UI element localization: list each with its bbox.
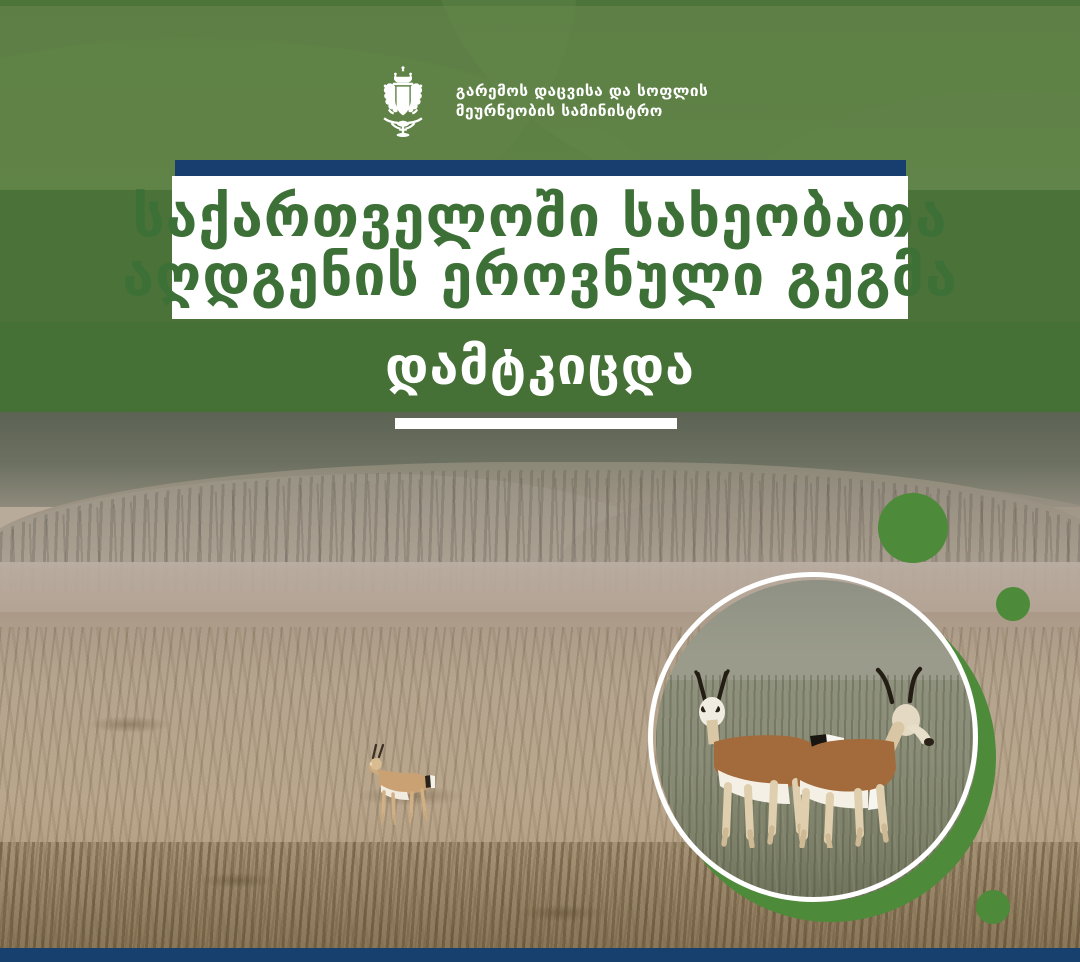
title-line-1: საქართველოში სახეობათა — [132, 188, 947, 247]
poster-root: გარემოს დაცვისა და სოფლის მეურნეობის სამ… — [0, 0, 1080, 962]
title-divider-bar — [395, 418, 677, 429]
georgia-coat-of-arms-icon — [372, 64, 434, 138]
ministry-name-text: გარემოს დაცვისა და სოფლის მეურნეობის სამ… — [456, 81, 708, 122]
gazelle-icon — [349, 742, 453, 838]
decor-circle-large — [878, 493, 948, 563]
approved-band: დამტკიცდა — [0, 322, 1080, 412]
title-plate-rule — [175, 160, 906, 176]
approved-text: დამტკიცდა — [385, 341, 695, 393]
inset-white-ring — [648, 572, 978, 902]
ministry-logo-lockup: გარემოს დაცვისა და სოფლის მეურნეობის სამ… — [0, 62, 1080, 140]
gazelle-inset — [648, 572, 1008, 932]
footer-bar — [0, 948, 1080, 962]
title-line-2: აღდგენის ეროვნული გეგმა — [122, 247, 957, 306]
title-plate: საქართველოში სახეობათა აღდგენის ეროვნული… — [172, 160, 908, 319]
title-plate-body: საქართველოში სახეობათა აღდგენის ეროვნული… — [172, 176, 908, 319]
